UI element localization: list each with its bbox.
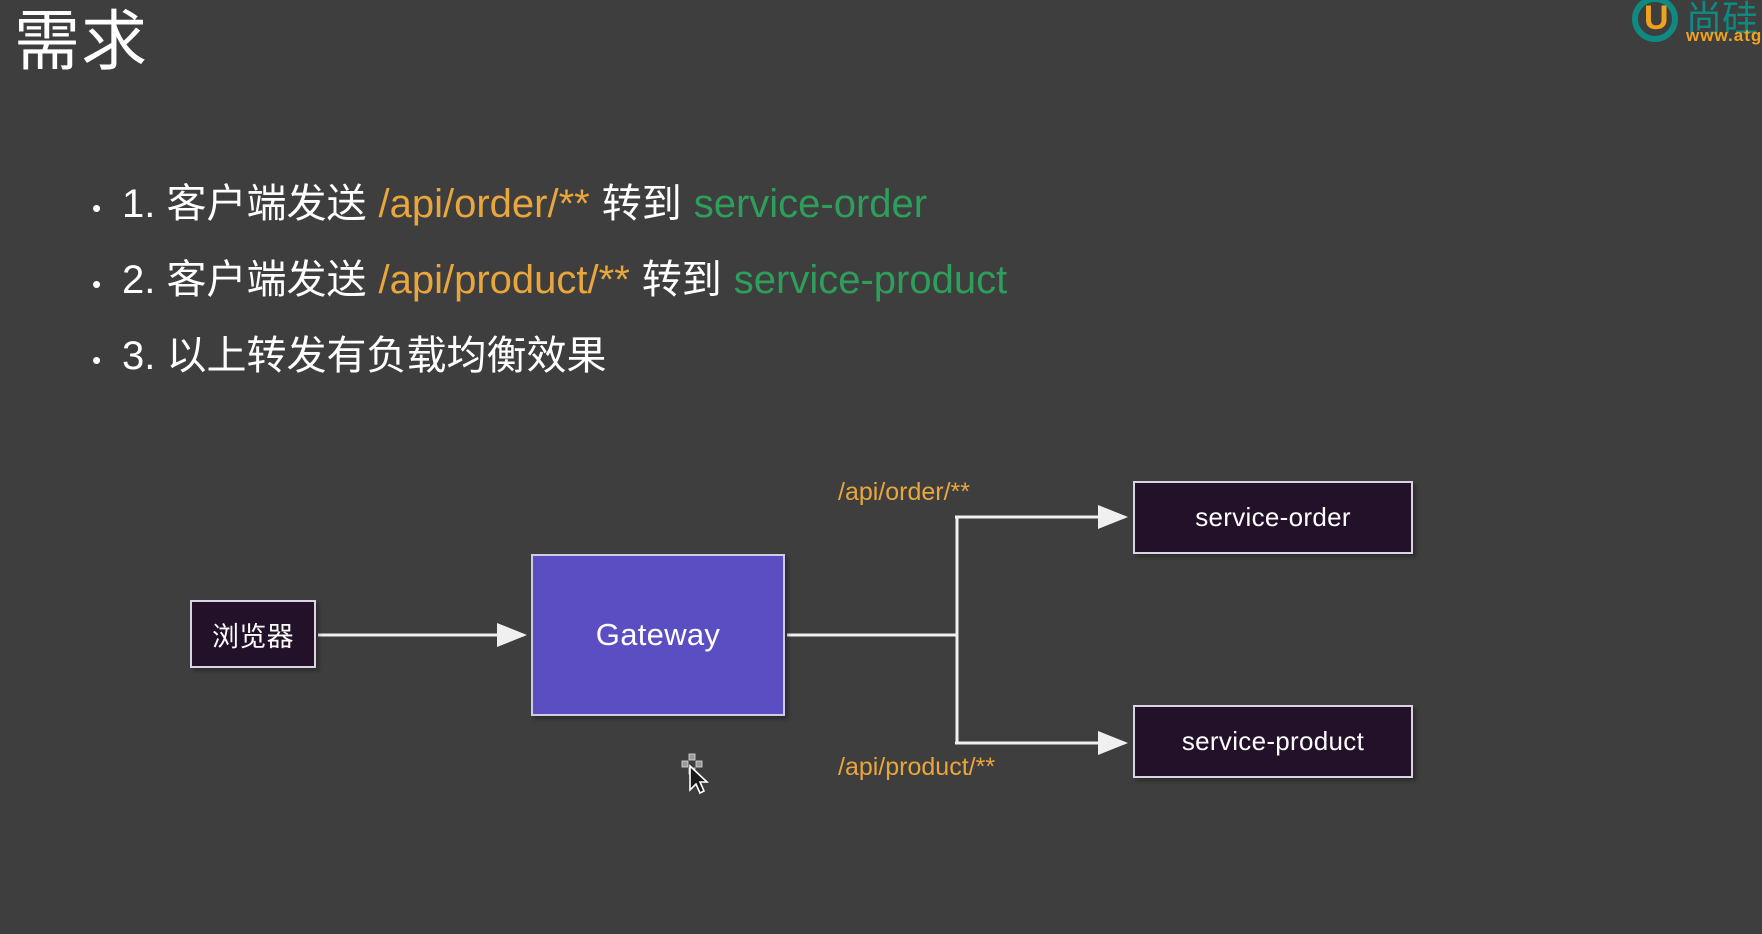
list-item: • 2. 客户端发送/api/product/**转到service-produ… [92, 244, 1492, 320]
bullet-3-segment-1: 3. 以上转发有负载均衡效果 [122, 334, 606, 378]
diagram-node-gateway[interactable]: Gateway [531, 554, 785, 716]
bullet-1-route-path: /api/order/** [378, 182, 589, 226]
bullet-marker: • [92, 324, 122, 396]
diagram-node-service-product[interactable]: service-product [1133, 705, 1413, 778]
bullet-2-service-name: service-product [734, 258, 1007, 302]
bullet-2-segment-1: 2. 客户端发送 [122, 258, 366, 302]
logo-letter: U [1644, 0, 1669, 38]
bullet-1-segment-1: 1. 客户端发送 [122, 182, 366, 226]
list-item: • 1. 客户端发送/api/order/**转到service-order [92, 168, 1492, 244]
requirements-list: • 1. 客户端发送/api/order/**转到service-order •… [92, 168, 1492, 396]
diagram-node-browser[interactable]: 浏览器 [190, 600, 316, 668]
logo-url: www.atg [1686, 26, 1762, 46]
list-item-text: 3. 以上转发有负载均衡效果 [122, 320, 606, 392]
bullet-1-service-name: service-order [694, 182, 927, 226]
bullet-2-segment-3: 转到 [642, 258, 722, 302]
bullet-1-segment-3: 转到 [602, 182, 682, 226]
watermark-logo: U 尚硅 www.atg [1630, 0, 1762, 52]
list-item-text: 2. 客户端发送/api/product/**转到service-product [122, 244, 1007, 316]
edge-label-order-path: /api/order/** [838, 478, 970, 507]
page-title: 需求 [14, 2, 148, 81]
bullet-marker: • [92, 248, 122, 320]
list-item-text: 1. 客户端发送/api/order/**转到service-order [122, 168, 927, 240]
list-item: • 3. 以上转发有负载均衡效果 [92, 320, 1492, 396]
diagram-node-service-order[interactable]: service-order [1133, 481, 1413, 554]
bullet-2-route-path: /api/product/** [378, 258, 629, 302]
edge-label-product-path: /api/product/** [838, 753, 995, 782]
bullet-marker: • [92, 172, 122, 244]
architecture-diagram: 浏览器 Gateway service-order service-produc… [0, 440, 1762, 860]
